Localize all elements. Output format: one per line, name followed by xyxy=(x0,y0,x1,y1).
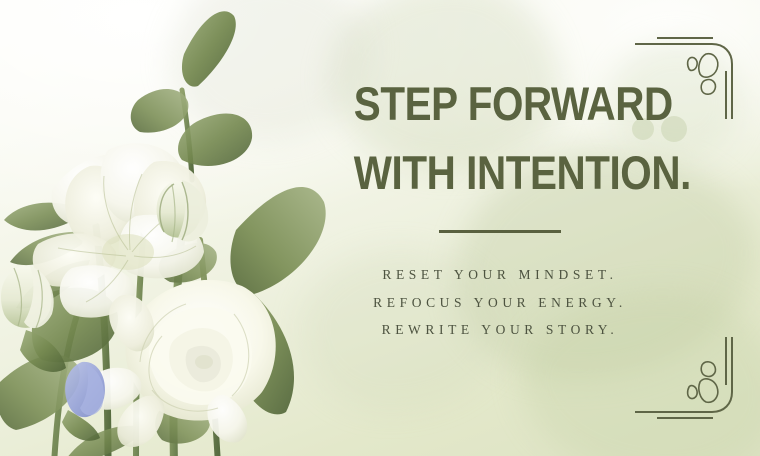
headline-line-1: STEP FORWARD xyxy=(354,80,646,127)
subtitle-line-1: RESET YOUR MINDSET. xyxy=(330,261,670,289)
text-content: STEP FORWARD WITH INTENTION. RESET YOUR … xyxy=(330,80,670,344)
poster-canvas: STEP FORWARD WITH INTENTION. RESET YOUR … xyxy=(0,0,760,456)
subtitle-line-2: REFOCUS YOUR ENERGY. xyxy=(330,289,670,317)
divider-rule xyxy=(439,230,561,233)
corner-ornament-bottom-right xyxy=(632,332,754,442)
floral-illustration xyxy=(0,0,336,456)
subtitle-line-3: REWRITE YOUR STORY. xyxy=(330,316,670,344)
corner-ornament-top-right xyxy=(632,14,754,124)
headline-line-2: WITH INTENTION. xyxy=(354,149,646,196)
